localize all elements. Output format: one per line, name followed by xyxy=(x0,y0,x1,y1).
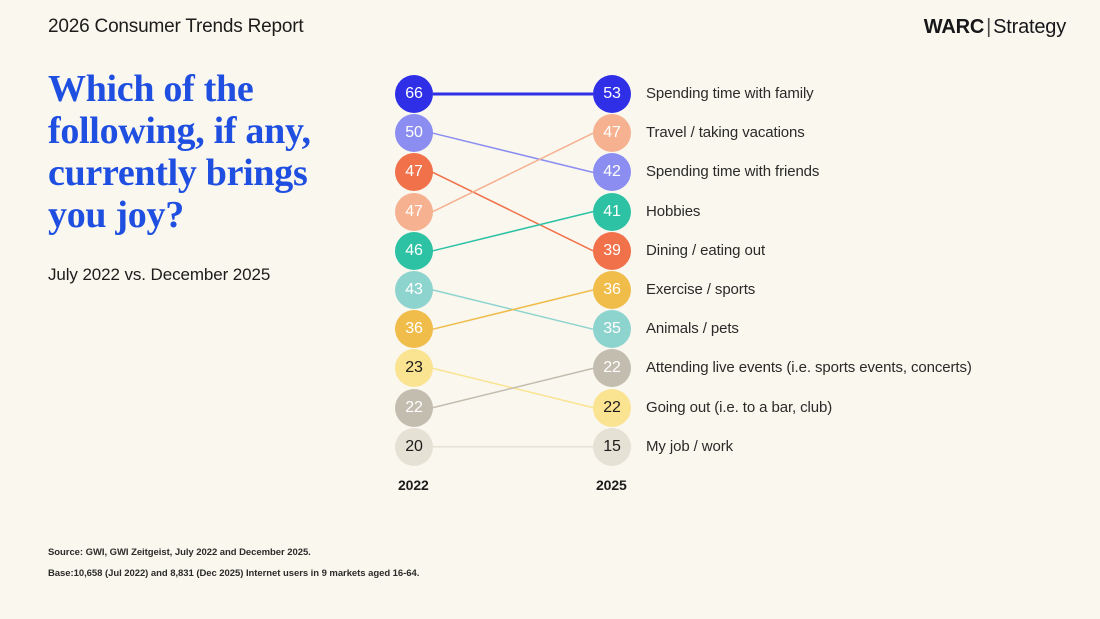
slopegraph-node-right[interactable]: 15 xyxy=(593,428,631,466)
slopegraph-node-left[interactable]: 20 xyxy=(395,428,433,466)
footnote-source: Source: GWI, GWI Zeitgeist, July 2022 an… xyxy=(48,542,419,563)
brand-strategy: Strategy xyxy=(993,16,1066,38)
category-label: My job / work xyxy=(646,438,733,455)
node-value: 53 xyxy=(603,85,620,103)
node-value: 47 xyxy=(603,124,620,142)
slide-canvas: 2026 Consumer Trends Report WARC|Strateg… xyxy=(0,0,1100,619)
slopegraph-node-left[interactable]: 50 xyxy=(395,114,433,152)
node-value: 46 xyxy=(405,242,422,260)
slopegraph-node-left[interactable]: 43 xyxy=(395,271,433,309)
headline-subtitle: July 2022 vs. December 2025 xyxy=(48,265,270,285)
slope-line xyxy=(433,212,593,251)
page-title: 2026 Consumer Trends Report xyxy=(48,16,303,38)
slopegraph-node-left[interactable]: 46 xyxy=(395,232,433,270)
category-label: Exercise / sports xyxy=(646,281,755,298)
brand-warc: WARC xyxy=(924,16,984,38)
slope-line xyxy=(433,133,593,172)
node-value: 42 xyxy=(603,163,620,181)
headline-question: Which of the following, if any, currentl… xyxy=(48,68,348,236)
node-value: 41 xyxy=(603,203,620,221)
node-value: 23 xyxy=(405,359,422,377)
slope-line xyxy=(433,172,593,250)
node-value: 36 xyxy=(603,281,620,299)
node-value: 15 xyxy=(603,438,620,456)
category-label: Spending time with friends xyxy=(646,163,819,180)
slopegraph-node-right[interactable]: 39 xyxy=(593,232,631,270)
slopegraph-node-left[interactable]: 36 xyxy=(395,310,433,348)
node-value: 43 xyxy=(405,281,422,299)
slopegraph-node-right[interactable]: 22 xyxy=(593,389,631,427)
slopegraph-node-right[interactable]: 47 xyxy=(593,114,631,152)
category-label: Hobbies xyxy=(646,203,700,220)
slope-line xyxy=(433,133,593,211)
node-value: 22 xyxy=(405,399,422,417)
node-value: 36 xyxy=(405,320,422,338)
slopegraph-node-left[interactable]: 66 xyxy=(395,75,433,113)
node-value: 22 xyxy=(603,399,620,417)
slopegraph-node-left[interactable]: 22 xyxy=(395,389,433,427)
category-label: Spending time with family xyxy=(646,85,814,102)
slopegraph-node-left[interactable]: 47 xyxy=(395,193,433,231)
node-value: 47 xyxy=(405,203,422,221)
slopegraph-chart: 66504747464336232220 5347424139363522221… xyxy=(380,60,1080,500)
slopegraph-node-right[interactable]: 53 xyxy=(593,75,631,113)
node-value: 35 xyxy=(603,320,620,338)
node-value: 20 xyxy=(405,438,422,456)
axis-label-2025: 2025 xyxy=(596,477,627,493)
brand-separator: | xyxy=(984,16,993,38)
footnote-base: Base:10,658 (Jul 2022) and 8,831 (Dec 20… xyxy=(48,563,419,584)
slopegraph-node-right[interactable]: 41 xyxy=(593,193,631,231)
category-label: Dining / eating out xyxy=(646,242,765,259)
node-value: 22 xyxy=(603,359,620,377)
node-value: 47 xyxy=(405,163,422,181)
slopegraph-node-right[interactable]: 36 xyxy=(593,271,631,309)
category-label: Going out (i.e. to a bar, club) xyxy=(646,399,832,416)
brand-lockup: WARC|Strategy xyxy=(924,16,1066,39)
category-label: Attending live events (i.e. sports event… xyxy=(646,359,972,376)
axis-label-2022: 2022 xyxy=(398,477,429,493)
node-value: 50 xyxy=(405,124,422,142)
category-label: Animals / pets xyxy=(646,320,739,337)
slopegraph-node-right[interactable]: 35 xyxy=(593,310,631,348)
node-value: 39 xyxy=(603,242,620,260)
category-label: Travel / taking vacations xyxy=(646,124,805,141)
node-value: 66 xyxy=(405,85,422,103)
footnotes: Source: GWI, GWI Zeitgeist, July 2022 an… xyxy=(48,542,419,584)
